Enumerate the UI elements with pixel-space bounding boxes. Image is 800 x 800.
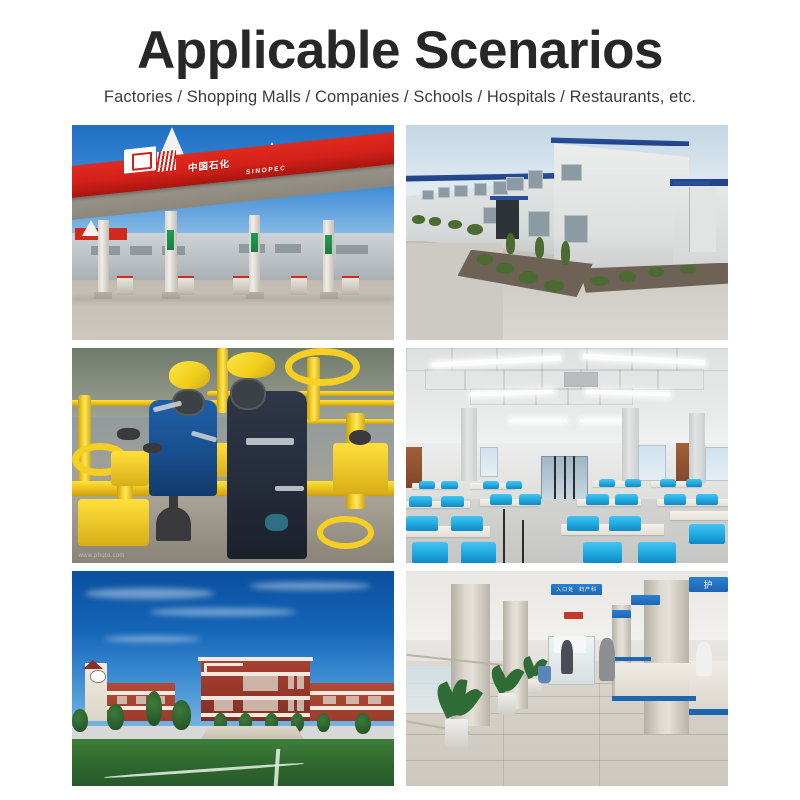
shrub (496, 263, 514, 275)
window (297, 700, 303, 711)
fuel-dispenser (117, 276, 133, 295)
canopy-column (165, 211, 176, 293)
dining-table (670, 511, 728, 520)
dining-chair (409, 496, 432, 507)
person-standing (599, 638, 615, 681)
factory-photo (406, 125, 728, 340)
page-title: Applicable Scenarios (0, 0, 800, 79)
valve-cap (349, 430, 372, 445)
dining-chair (586, 494, 609, 505)
hospital-photo: 入口处 妇产科 护 (406, 571, 728, 786)
window (480, 447, 498, 477)
gas-station-photo: 中国石化 SINOPEC (72, 125, 394, 340)
exit-sign-icon (564, 612, 583, 620)
valve-body (333, 443, 388, 495)
potted-plant (490, 666, 525, 718)
facade-band (310, 706, 394, 709)
department-sign-text-2: 妇产科 (579, 586, 597, 593)
gas-mask (230, 378, 266, 410)
dining-chair (519, 494, 542, 505)
tower-clock-icon (90, 670, 106, 683)
window (214, 700, 233, 711)
scenario-photo-grid: 中国石化 SINOPEC (72, 125, 728, 785)
tree (172, 700, 191, 730)
entrance-canopy (673, 181, 708, 185)
shrub (467, 224, 483, 235)
pillar (461, 408, 477, 481)
canopy-column (98, 220, 109, 293)
canopy-column (249, 215, 260, 292)
pump-signage (167, 230, 174, 249)
window (528, 211, 549, 237)
air-vent (564, 372, 598, 387)
loading-bay-door (689, 187, 716, 252)
valve-body (111, 451, 150, 485)
dining-chair (441, 496, 464, 507)
window (297, 676, 303, 689)
wall-sign (612, 610, 631, 619)
dining-chair (412, 542, 447, 564)
dining-chair (599, 479, 615, 487)
wall-stripe (612, 696, 696, 701)
window (243, 676, 278, 691)
pergola-frame (204, 663, 243, 665)
window (638, 445, 666, 481)
roof-parapet (198, 657, 314, 661)
shrub (544, 280, 563, 292)
sports-field (72, 739, 394, 786)
window (288, 700, 294, 711)
staff-member (696, 642, 712, 676)
dining-chair (451, 516, 483, 531)
dining-chair (567, 516, 599, 531)
dining-chair (625, 479, 641, 487)
applicable-scenarios-page: Applicable Scenarios Factories / Shoppin… (0, 0, 800, 800)
pump-signage (325, 235, 332, 254)
dining-chair (689, 524, 724, 543)
wall-sign (631, 595, 660, 606)
window (454, 185, 467, 197)
nurse-station-sign: 护 (689, 577, 728, 592)
facade-band (310, 691, 394, 694)
tree (561, 241, 571, 265)
window (474, 183, 487, 196)
page-header: Applicable Scenarios Factories / Shoppin… (0, 0, 800, 107)
dining-chair (406, 516, 438, 531)
dining-chair (441, 481, 457, 489)
work-glove (265, 514, 288, 531)
tree (72, 709, 88, 733)
shrub (519, 271, 538, 284)
fuel-dispenser (342, 276, 358, 295)
valve-handwheel (317, 516, 374, 550)
department-sign-text-1: 入口处 (556, 586, 574, 593)
hi-vis-stripe (246, 438, 294, 444)
window (438, 187, 450, 198)
worker-body-dark (227, 391, 308, 559)
tree (146, 691, 162, 725)
valve-handwheel (285, 348, 360, 386)
warehouse-wall-front (554, 138, 689, 276)
work-glove (117, 428, 140, 441)
school-photo (72, 571, 394, 786)
window (288, 676, 294, 689)
shrub (590, 276, 609, 287)
dining-chair (615, 494, 638, 505)
window (368, 696, 381, 705)
ground-shadow (72, 297, 394, 301)
dining-chair (696, 494, 719, 505)
window (422, 190, 434, 201)
dining-chair (483, 481, 499, 489)
dining-chair (609, 516, 641, 531)
dining-chair (506, 481, 522, 489)
pillar (622, 408, 640, 481)
wall-stripe (612, 657, 651, 661)
nurse-station-sign-text: 护 (704, 578, 714, 591)
canteen-photo (406, 348, 728, 563)
sinopec-stripes-icon (157, 150, 176, 172)
gas-plant-workers-photo: www.photo.com (72, 348, 394, 563)
dining-chair (664, 494, 687, 505)
tree (317, 713, 330, 732)
tree (535, 237, 545, 259)
wall-stripe (689, 709, 728, 715)
dining-chair (419, 481, 435, 489)
department-sign: 入口处 妇产科 (551, 584, 603, 595)
fuel-dispenser (291, 276, 307, 295)
ceiling-light (509, 419, 567, 422)
dining-chair (686, 479, 702, 487)
window (243, 700, 278, 711)
window (117, 696, 127, 705)
pillar (689, 413, 705, 484)
fuel-dispenser (233, 276, 249, 295)
dining-chair (660, 479, 676, 487)
waste-bin (538, 666, 551, 683)
shrub (477, 254, 493, 265)
window (506, 177, 524, 192)
hard-hat (169, 361, 211, 389)
canopy-column (323, 220, 334, 293)
hard-hat (227, 352, 275, 378)
window (136, 696, 146, 705)
dining-chair (461, 542, 496, 564)
facade-band (104, 691, 175, 694)
window (323, 696, 336, 705)
window (561, 164, 582, 181)
dining-chair (583, 542, 622, 564)
sinopec-logo-icon (124, 146, 156, 173)
tower-roof (83, 660, 103, 669)
window (564, 215, 589, 243)
shrub (619, 271, 637, 282)
tree (355, 713, 371, 735)
fuel-dispenser (178, 276, 194, 295)
shrub (648, 267, 664, 277)
window (528, 170, 543, 189)
hi-vis-stripe (275, 486, 304, 491)
work-glove (143, 443, 162, 454)
entrance-door (496, 200, 519, 239)
pump-signage (251, 233, 258, 252)
page-subtitle: Factories / Shopping Malls / Companies /… (0, 79, 800, 107)
person-walking (561, 640, 574, 674)
window (346, 696, 359, 705)
tree (107, 704, 123, 730)
potted-plant (435, 683, 480, 752)
plaza-steps (201, 726, 304, 739)
valve-body (78, 499, 149, 546)
dining-chair (490, 494, 513, 505)
window (705, 447, 728, 481)
dining-chair (638, 542, 677, 564)
pergola-frame (204, 663, 207, 676)
